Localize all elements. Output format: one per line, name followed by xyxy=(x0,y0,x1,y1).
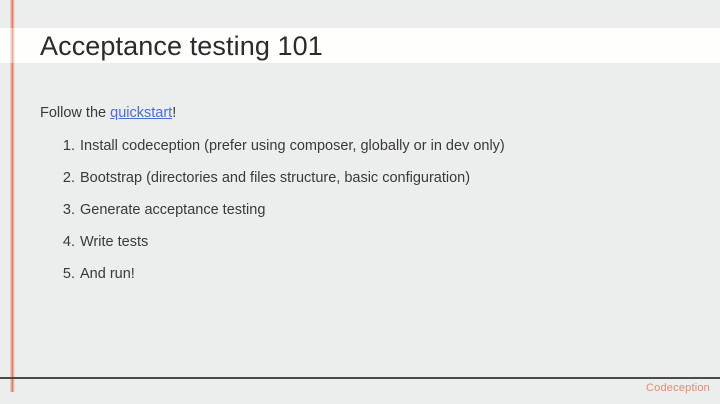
list-item-number: 1. xyxy=(53,136,75,156)
list-item-text: Install codeception (prefer using compos… xyxy=(80,138,505,154)
list-item-text: Generate acceptance testing xyxy=(80,202,265,218)
list-item-text: Write tests xyxy=(80,234,148,250)
footer-divider xyxy=(0,377,720,379)
list-item-number: 4. xyxy=(53,232,75,252)
steps-list: 1. Install codeception (prefer using com… xyxy=(40,136,700,296)
list-item-number: 3. xyxy=(53,200,75,220)
list-item-text: And run! xyxy=(80,266,135,282)
slide-body: Follow the quickstart! 1. Install codece… xyxy=(40,103,700,296)
footer-brand-label: Codeception xyxy=(646,380,710,396)
intro-prefix-text: Follow the xyxy=(40,105,110,121)
list-item-number: 2. xyxy=(53,168,75,188)
intro-line: Follow the quickstart! xyxy=(40,103,700,123)
presentation-slide: Acceptance testing 101 Follow the quicks… xyxy=(0,0,720,404)
list-item: 4. Write tests xyxy=(40,232,700,264)
list-item-number: 5. xyxy=(53,264,75,284)
list-item-text: Bootstrap (directories and files structu… xyxy=(80,170,470,186)
list-item: 2. Bootstrap (directories and files stru… xyxy=(40,168,700,200)
quickstart-link[interactable]: quickstart xyxy=(110,105,172,121)
list-item: 3. Generate acceptance testing xyxy=(40,200,700,232)
list-item: 1. Install codeception (prefer using com… xyxy=(40,136,700,168)
intro-suffix-text: ! xyxy=(172,105,176,121)
page-title: Acceptance testing 101 xyxy=(40,27,323,65)
list-item: 5. And run! xyxy=(40,264,700,296)
